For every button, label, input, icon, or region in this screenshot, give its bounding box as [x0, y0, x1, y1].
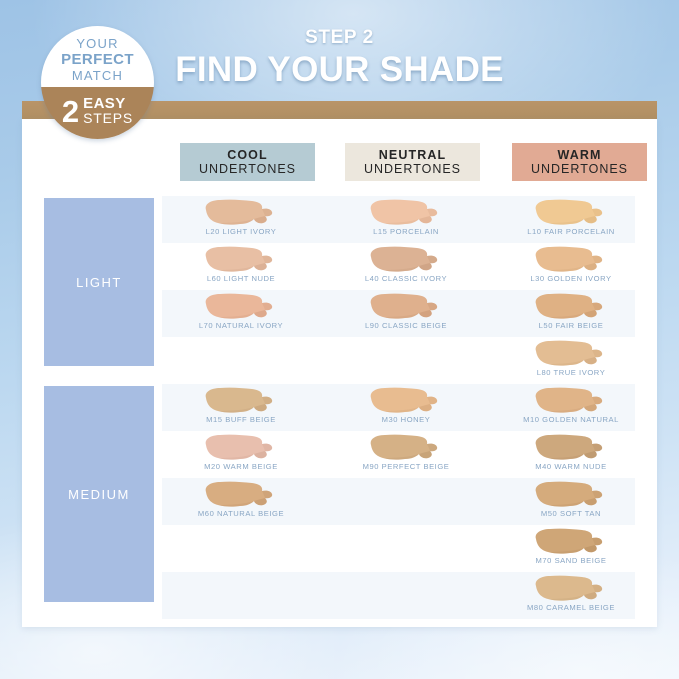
shade-cell-empty: [327, 337, 485, 384]
shade-row: L20 LIGHT IVORYL15 PORCELAINL10 FAIR POR…: [162, 196, 635, 243]
column-subtitle-neutral: UNDERTONES: [364, 162, 461, 177]
shade-cell-l90[interactable]: L90 CLASSIC BEIGE: [327, 290, 485, 337]
shade-cell-empty: [327, 572, 485, 619]
section-label-medium: MEDIUM: [44, 386, 154, 602]
shade-grid-medium: M15 BUFF BEIGEM30 HONEYM10 GOLDEN NATURA…: [162, 384, 635, 619]
shade-swatch-icon: [362, 245, 450, 275]
shade-swatch-icon: [362, 198, 450, 228]
shade-cell-m40[interactable]: M40 WARM NUDE: [492, 431, 650, 478]
shade-cell-l15[interactable]: L15 PORCELAIN: [327, 196, 485, 243]
shade-row: M80 CARAMEL BEIGE: [162, 572, 635, 619]
shade-swatch-icon: [527, 245, 615, 275]
shade-swatch-icon: [362, 433, 450, 463]
shade-cell-m90[interactable]: M90 PERFECT BEIGE: [327, 431, 485, 478]
shade-row: L60 LIGHT NUDEL40 CLASSIC IVORYL30 GOLDE…: [162, 243, 635, 290]
shade-cell-l20[interactable]: L20 LIGHT IVORY: [162, 196, 320, 243]
shade-swatch-icon: [362, 386, 450, 416]
shade-cell-empty: [162, 572, 320, 619]
shade-label: L40 CLASSIC IVORY: [327, 274, 485, 283]
badge-word-easy: EASY: [83, 96, 125, 111]
column-title-warm: WARM: [558, 148, 602, 162]
shade-row: L70 NATURAL IVORYL90 CLASSIC BEIGEL50 FA…: [162, 290, 635, 337]
shade-cell-m80[interactable]: M80 CARAMEL BEIGE: [492, 572, 650, 619]
shade-cell-l80[interactable]: L80 TRUE IVORY: [492, 337, 650, 384]
shade-swatch-icon: [527, 339, 615, 369]
shade-cell-m60[interactable]: M60 NATURAL BEIGE: [162, 478, 320, 525]
shade-label: M15 BUFF BEIGE: [162, 415, 320, 424]
shade-swatch-icon: [197, 433, 285, 463]
shade-row: M70 SAND BEIGE: [162, 525, 635, 572]
column-title-cool: COOL: [227, 148, 268, 162]
shade-label: M30 HONEY: [327, 415, 485, 424]
shade-row: M60 NATURAL BEIGEM50 SOFT TAN: [162, 478, 635, 525]
shade-cell-m15[interactable]: M15 BUFF BEIGE: [162, 384, 320, 431]
column-header-warm: WARM UNDERTONES: [512, 143, 647, 181]
column-header-neutral: NEUTRAL UNDERTONES: [345, 143, 480, 181]
badge-line-your: YOUR: [76, 37, 118, 51]
badge-word-steps: STEPS: [83, 111, 133, 126]
badge-step-number: 2: [62, 96, 79, 127]
shade-grid-light: L20 LIGHT IVORYL15 PORCELAINL10 FAIR POR…: [162, 196, 635, 384]
shade-label: M80 CARAMEL BEIGE: [492, 603, 650, 612]
shade-cell-m10[interactable]: M10 GOLDEN NATURAL: [492, 384, 650, 431]
column-subtitle-warm: UNDERTONES: [531, 162, 628, 177]
shade-label: M60 NATURAL BEIGE: [162, 509, 320, 518]
badge-line-perfect: PERFECT: [61, 51, 134, 68]
badge-bottom-half: 2 EASY STEPS: [41, 87, 154, 139]
shade-swatch-icon: [197, 198, 285, 228]
shade-row: M15 BUFF BEIGEM30 HONEYM10 GOLDEN NATURA…: [162, 384, 635, 431]
shade-cell-m70[interactable]: M70 SAND BEIGE: [492, 525, 650, 572]
shade-cell-m50[interactable]: M50 SOFT TAN: [492, 478, 650, 525]
shade-label: L50 FAIR BEIGE: [492, 321, 650, 330]
badge-line-match: MATCH: [72, 68, 123, 83]
shade-label: M10 GOLDEN NATURAL: [492, 415, 650, 424]
shade-cell-l40[interactable]: L40 CLASSIC IVORY: [327, 243, 485, 290]
shade-swatch-icon: [527, 198, 615, 228]
shade-swatch-icon: [527, 574, 615, 604]
shade-swatch-icon: [197, 245, 285, 275]
shade-label: M90 PERFECT BEIGE: [327, 462, 485, 471]
shade-label: M40 WARM NUDE: [492, 462, 650, 471]
badge-step-words: EASY STEPS: [83, 96, 133, 126]
shade-cell-empty: [162, 337, 320, 384]
shade-cell-m30[interactable]: M30 HONEY: [327, 384, 485, 431]
perfect-match-badge: YOUR PERFECT MATCH 2 EASY STEPS: [41, 26, 154, 139]
shade-row: M20 WARM BEIGEM90 PERFECT BEIGEM40 WARM …: [162, 431, 635, 478]
shade-row: L80 TRUE IVORY: [162, 337, 635, 384]
shade-cell-empty: [327, 478, 485, 525]
shade-label: L70 NATURAL IVORY: [162, 321, 320, 330]
shade-swatch-icon: [197, 480, 285, 510]
shade-swatch-icon: [527, 433, 615, 463]
shade-label: L15 PORCELAIN: [327, 227, 485, 236]
shade-label: L80 TRUE IVORY: [492, 368, 650, 377]
shade-cell-empty: [327, 525, 485, 572]
shade-label: L60 LIGHT NUDE: [162, 274, 320, 283]
shade-cell-l70[interactable]: L70 NATURAL IVORY: [162, 290, 320, 337]
shade-label: L20 LIGHT IVORY: [162, 227, 320, 236]
section-label-light: LIGHT: [44, 198, 154, 366]
column-subtitle-cool: UNDERTONES: [199, 162, 296, 177]
shade-cell-l50[interactable]: L50 FAIR BEIGE: [492, 290, 650, 337]
shade-swatch-icon: [527, 292, 615, 322]
shade-label: M20 WARM BEIGE: [162, 462, 320, 471]
shade-cell-l60[interactable]: L60 LIGHT NUDE: [162, 243, 320, 290]
shade-cell-empty: [162, 525, 320, 572]
shade-label: M50 SOFT TAN: [492, 509, 650, 518]
shade-cell-l10[interactable]: L10 FAIR PORCELAIN: [492, 196, 650, 243]
shade-swatch-icon: [527, 527, 615, 557]
shade-label: M70 SAND BEIGE: [492, 556, 650, 565]
shade-swatch-icon: [197, 292, 285, 322]
shade-cell-m20[interactable]: M20 WARM BEIGE: [162, 431, 320, 478]
shade-swatch-icon: [527, 386, 615, 416]
shade-label: L90 CLASSIC BEIGE: [327, 321, 485, 330]
column-header-cool: COOL UNDERTONES: [180, 143, 315, 181]
shade-cell-l30[interactable]: L30 GOLDEN IVORY: [492, 243, 650, 290]
shade-swatch-icon: [362, 292, 450, 322]
column-title-neutral: NEUTRAL: [379, 148, 446, 162]
shade-label: L10 FAIR PORCELAIN: [492, 227, 650, 236]
shade-swatch-icon: [527, 480, 615, 510]
badge-top-half: YOUR PERFECT MATCH: [41, 26, 154, 87]
shade-label: L30 GOLDEN IVORY: [492, 274, 650, 283]
shade-swatch-icon: [197, 386, 285, 416]
